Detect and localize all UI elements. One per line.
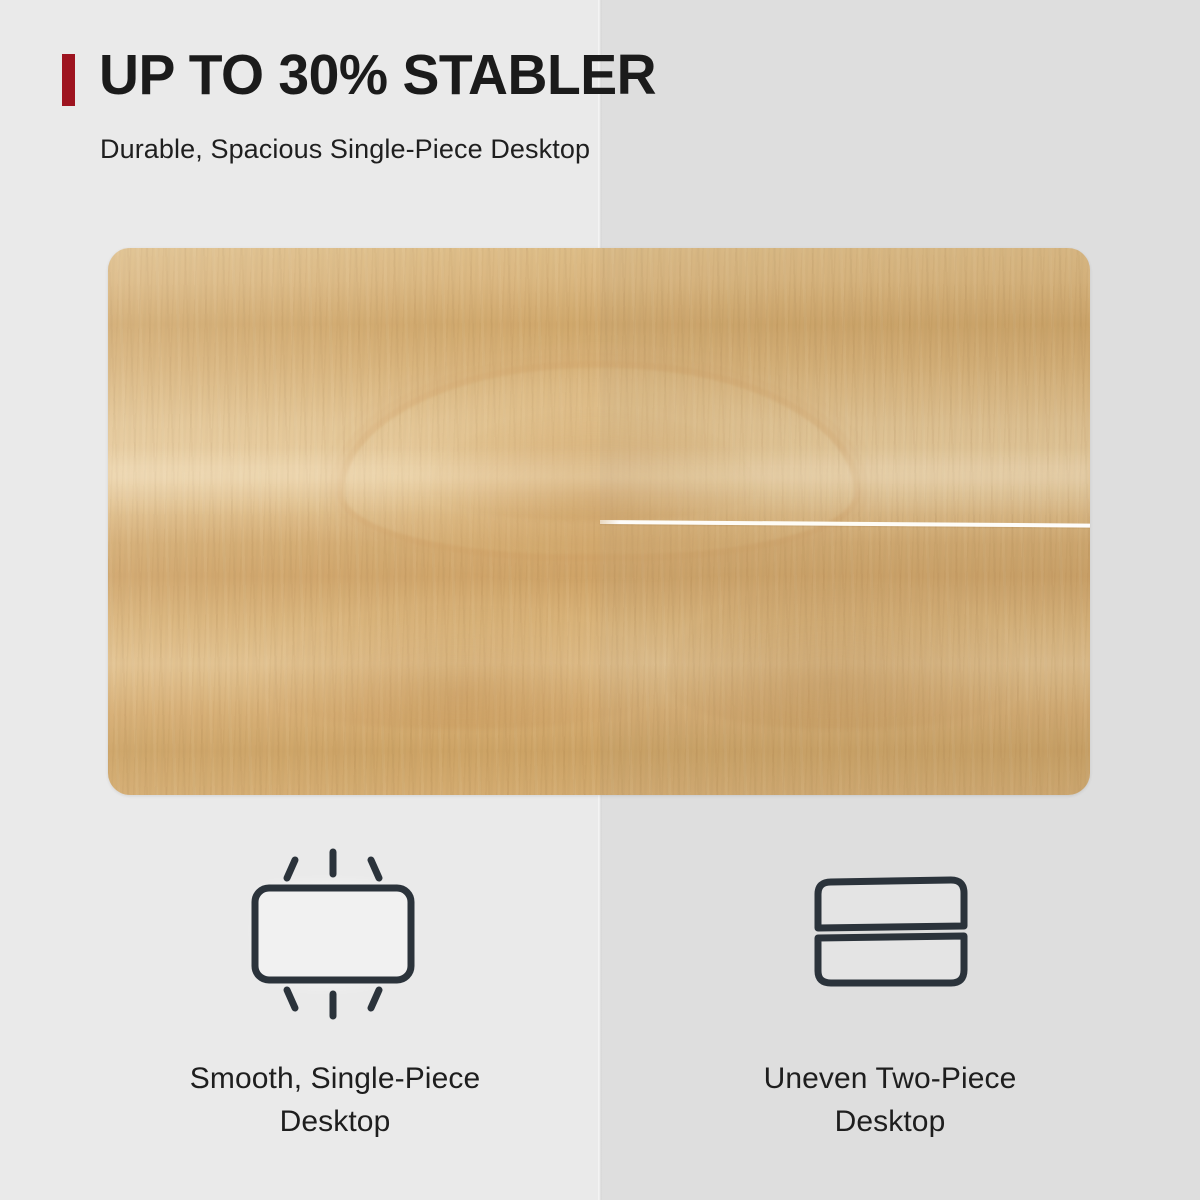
page-subtitle: Durable, Spacious Single-Piece Desktop (100, 134, 590, 165)
header: UP TO 30% STABLER Durable, Spacious Sing… (0, 0, 1200, 210)
single-panel-shape (255, 888, 411, 980)
shine-rays-bottom (287, 990, 379, 1016)
lower-panel-shape (818, 936, 964, 983)
uneven-two-panel-icon (788, 872, 988, 998)
desktop-surface-image (108, 248, 1090, 795)
caption-right-line1: Uneven Two-Piece (665, 1058, 1115, 1101)
caption-right: Uneven Two-Piece Desktop (665, 1058, 1115, 1143)
shine-rays-top (287, 852, 379, 878)
accent-bar (62, 54, 75, 106)
smooth-single-panel-shine-icon (233, 846, 433, 1022)
caption-left-line1: Smooth, Single-Piece (110, 1058, 560, 1101)
promo-image-root: UP TO 30% STABLER Durable, Spacious Sing… (0, 0, 1200, 1200)
caption-right-line2: Desktop (665, 1101, 1115, 1144)
caption-left: Smooth, Single-Piece Desktop (110, 1058, 560, 1143)
caption-left-line2: Desktop (110, 1101, 560, 1144)
upper-panel-shape (818, 880, 964, 928)
page-title: UP TO 30% STABLER (99, 44, 656, 108)
